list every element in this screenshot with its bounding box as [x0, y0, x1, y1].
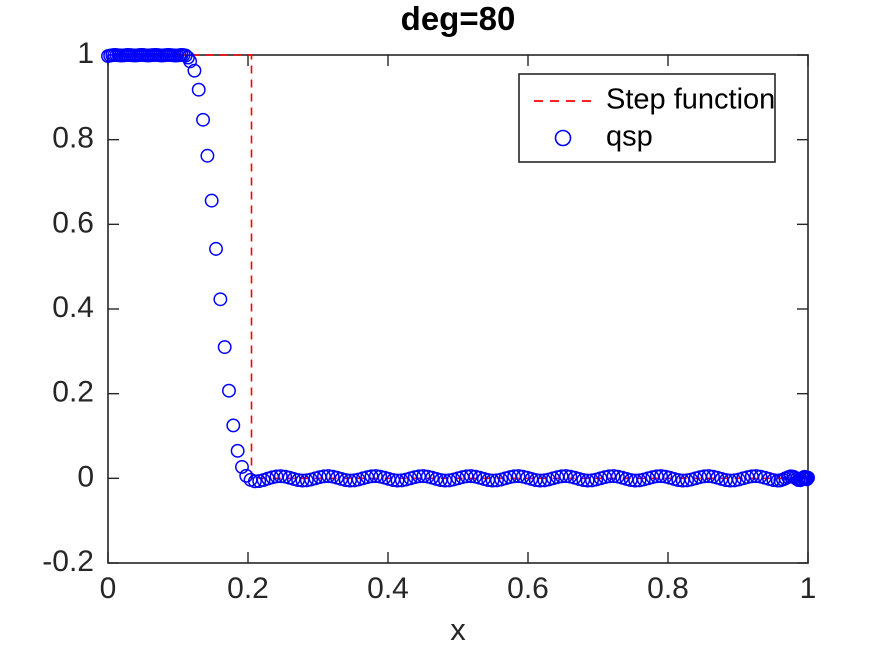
figure-canvas: deg=80 -0.200.20.40.60.81 00.20.40.60.81… — [0, 0, 875, 656]
y-tick-label: 0 — [77, 460, 94, 493]
qsp-data-point — [193, 84, 205, 96]
y-tick-label: 0.2 — [52, 376, 94, 409]
qsp-data-point — [197, 114, 209, 126]
y-tick-label: 0.8 — [52, 122, 94, 155]
qsp-data-point — [205, 194, 217, 206]
plot-svg: deg=80 -0.200.20.40.60.81 00.20.40.60.81… — [0, 0, 875, 656]
x-tick-label: 0.8 — [647, 572, 689, 605]
x-tick-label: 1 — [800, 572, 817, 605]
qsp-data-point — [231, 445, 243, 457]
qsp-data-point — [227, 419, 239, 431]
qsp-data-point — [223, 385, 235, 397]
y-tick-label: 0.4 — [52, 291, 94, 324]
qsp-data-point — [214, 293, 226, 305]
qsp-data-point — [218, 341, 230, 353]
x-tick-label: 0.4 — [367, 572, 409, 605]
qsp-data-point — [201, 150, 213, 162]
page-title: deg=80 — [401, 0, 516, 37]
x-tick-label: 0.6 — [507, 572, 549, 605]
y-tick-label: 0.6 — [52, 206, 94, 239]
legend-label-qsp: qsp — [606, 121, 653, 153]
x-axis-label: x — [450, 612, 466, 647]
x-tick-label: 0.2 — [227, 572, 269, 605]
y-tick-label: -0.2 — [42, 545, 94, 578]
x-tick-label: 0 — [100, 572, 117, 605]
qsp-data-point — [210, 243, 222, 255]
y-tick-label: 1 — [77, 37, 94, 70]
legend[interactable]: Step function qsp — [519, 74, 775, 162]
legend-label-step-function: Step function — [606, 84, 775, 116]
